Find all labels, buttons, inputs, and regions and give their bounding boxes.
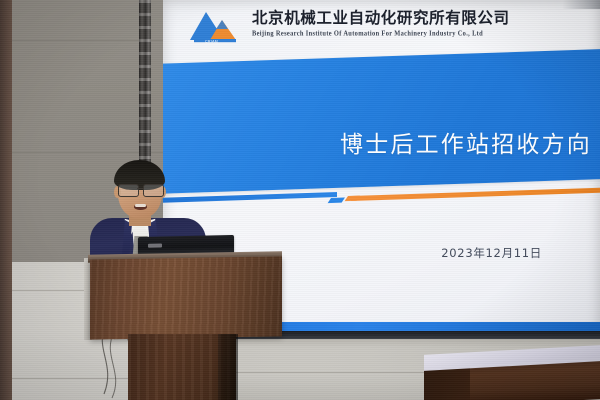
accent-stripe-orange xyxy=(351,187,600,201)
eyeglass-lens-right xyxy=(143,184,164,197)
company-name-cn: 北京机械工业自动化研究所有限公司 xyxy=(252,9,510,28)
laptop-brand-logo xyxy=(148,244,162,248)
slide-date: 2023年12月11日 xyxy=(441,245,542,261)
svg-text:CRIAM: CRIAM xyxy=(205,39,218,43)
eyeglass-bridge xyxy=(137,188,143,189)
company-name-en: Beijing Research Institute Of Automation… xyxy=(252,30,510,38)
screen-top-bevel xyxy=(563,0,600,9)
podium-base-shadow xyxy=(218,334,238,400)
accent-stripe-blue-tip xyxy=(328,198,345,204)
conference-photo: CRIAM 北京机械工业自动化研究所有限公司 Beijing Research … xyxy=(0,0,600,400)
podium-front-panel xyxy=(90,256,282,339)
slide-logo-row: CRIAM 北京机械工业自动化研究所有限公司 Beijing Research … xyxy=(188,8,538,54)
eyeglass-lens-left xyxy=(118,184,139,197)
eyeglasses-icon xyxy=(116,184,165,196)
slide-title-band xyxy=(163,49,600,194)
speaker-teeth xyxy=(135,204,146,207)
slide-title: 博士后工作站招收方向 xyxy=(172,125,592,159)
slide-logo-wordmark: 北京机械工业自动化研究所有限公司 Beijing Research Instit… xyxy=(252,8,510,37)
mountain-triangle-logo-icon: CRIAM xyxy=(188,8,248,48)
